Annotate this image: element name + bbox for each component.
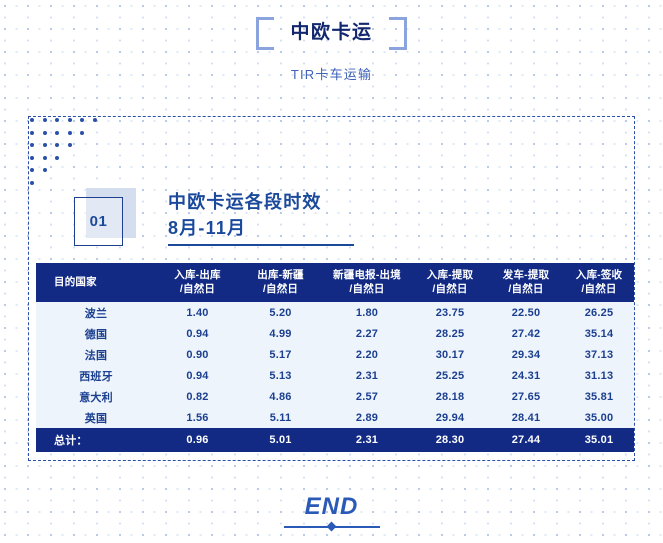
section-subtitle: 8月-11月	[168, 216, 354, 240]
table-cell-value: 1.80	[322, 302, 412, 323]
table-cell-value: 5.17	[239, 344, 322, 365]
decorative-dot	[80, 131, 84, 135]
badge-number-label: 01	[90, 213, 108, 230]
section-title-underline	[168, 244, 354, 246]
table-column-header: 发车-提取/自然日	[488, 263, 564, 302]
page-header: 中欧卡运 TIR卡车运输	[0, 0, 663, 83]
decorative-dot	[68, 131, 72, 135]
table-cell-value: 22.50	[488, 302, 564, 323]
footer-end-block: END	[0, 494, 663, 531]
column-header-line1: 入库-出库	[174, 269, 221, 281]
column-header-line2: /自然日	[239, 282, 322, 296]
bracket-bottom-right-icon	[389, 27, 407, 50]
table-cell-value: 37.13	[564, 344, 634, 365]
table-cell-country: 德国	[36, 323, 156, 344]
table-cell-value: 28.25	[412, 323, 488, 344]
table-cell-value: 5.20	[239, 302, 322, 323]
table-cell-value: 0.94	[156, 323, 239, 344]
decorative-dot	[68, 143, 72, 147]
table-cell-value: 4.86	[239, 386, 322, 407]
table-cell-value: 28.41	[488, 407, 564, 428]
section-title-block: 中欧卡运各段时效 8月-11月	[168, 190, 354, 246]
table-column-header: 入库-出库/自然日	[156, 263, 239, 302]
decorative-dot	[43, 131, 47, 135]
decorative-dot	[30, 143, 34, 147]
end-diamond-icon	[326, 522, 336, 532]
column-header-line2: /自然日	[322, 282, 412, 296]
table-column-header: 新疆电报-出境/自然日	[322, 263, 412, 302]
table-cell-value: 35.14	[564, 323, 634, 344]
table-cell-country: 意大利	[36, 386, 156, 407]
table-header: 目的国家入库-出库/自然日出库-新疆/自然日新疆电报-出境/自然日入库-提取/自…	[36, 263, 634, 302]
column-header-line2: /自然日	[564, 282, 634, 296]
decorative-dot	[93, 118, 97, 122]
decorative-dot	[55, 143, 59, 147]
table-column-header: 入库-签收/自然日	[564, 263, 634, 302]
table-cell-value: 25.25	[412, 365, 488, 386]
decorative-dot	[43, 143, 47, 147]
table-total-row: 总计：0.965.012.3128.3027.4435.01	[36, 428, 634, 452]
table-cell-value: 1.40	[156, 302, 239, 323]
table-cell-value: 35.81	[564, 386, 634, 407]
table-cell-value: 5.01	[239, 428, 322, 452]
table-cell-value: 2.20	[322, 344, 412, 365]
table-row: 意大利0.824.862.5728.1827.6535.81	[36, 386, 634, 407]
decorative-dot	[55, 156, 59, 160]
table-cell-value: 2.27	[322, 323, 412, 344]
table-row: 英国1.565.112.8929.9428.4135.00	[36, 407, 634, 428]
decorative-dot	[55, 131, 59, 135]
table-cell-value: 0.96	[156, 428, 239, 452]
table-cell-value: 26.25	[564, 302, 634, 323]
section-title: 中欧卡运各段时效	[168, 190, 354, 214]
column-header-line2: /自然日	[488, 282, 564, 296]
column-header-line1: 目的国家	[54, 276, 97, 288]
table-cell-value: 2.89	[322, 407, 412, 428]
table-cell-value: 2.31	[322, 365, 412, 386]
table-cell-value: 35.00	[564, 407, 634, 428]
decorative-dot	[30, 131, 34, 135]
column-header-line1: 新疆电报-出境	[333, 269, 401, 281]
table-cell-country: 总计：	[36, 428, 156, 452]
table-cell-value: 24.31	[488, 365, 564, 386]
table-cell-value: 29.94	[412, 407, 488, 428]
table-column-header: 目的国家	[36, 263, 156, 302]
decorative-dot	[55, 118, 59, 122]
table-cell-value: 27.44	[488, 428, 564, 452]
table-column-header: 出库-新疆/自然日	[239, 263, 322, 302]
decorative-dot	[68, 118, 72, 122]
table-row: 西班牙0.945.132.3125.2524.3131.13	[36, 365, 634, 386]
table-cell-value: 27.42	[488, 323, 564, 344]
decorative-dot	[30, 156, 34, 160]
transit-time-table: 目的国家入库-出库/自然日出库-新疆/自然日新疆电报-出境/自然日入库-提取/自…	[36, 263, 634, 452]
table-cell-country: 英国	[36, 407, 156, 428]
table-row: 法国0.905.172.2030.1729.3437.13	[36, 344, 634, 365]
table-cell-value: 0.82	[156, 386, 239, 407]
brand-lockup: 中欧卡运	[256, 17, 406, 50]
table-cell-value: 2.31	[322, 428, 412, 452]
table-cell-value: 0.90	[156, 344, 239, 365]
table-cell-value: 28.30	[412, 428, 488, 452]
table-cell-value: 29.34	[488, 344, 564, 365]
decorative-dot	[80, 118, 84, 122]
table-cell-value: 35.01	[564, 428, 634, 452]
decorative-dot	[30, 118, 34, 122]
column-header-line1: 入库-签收	[576, 269, 623, 281]
table-cell-value: 27.65	[488, 386, 564, 407]
column-header-line1: 出库-新疆	[257, 269, 304, 281]
column-header-line1: 发车-提取	[503, 269, 550, 281]
table-cell-country: 法国	[36, 344, 156, 365]
decorative-dot	[43, 168, 47, 172]
table-cell-value: 5.13	[239, 365, 322, 386]
decorative-dot	[43, 156, 47, 160]
brand-title: 中欧卡运	[290, 22, 372, 44]
table-cell-value: 31.13	[564, 365, 634, 386]
table-cell-value: 0.94	[156, 365, 239, 386]
table-cell-value: 2.57	[322, 386, 412, 407]
table-header-row: 目的国家入库-出库/自然日出库-新疆/自然日新疆电报-出境/自然日入库-提取/自…	[36, 263, 634, 302]
table-row: 波兰1.405.201.8023.7522.5026.25	[36, 302, 634, 323]
table-cell-country: 波兰	[36, 302, 156, 323]
table-body: 波兰1.405.201.8023.7522.5026.25德国0.944.992…	[36, 302, 634, 452]
table-cell-country: 西班牙	[36, 365, 156, 386]
end-rule-wrap	[284, 523, 380, 531]
section-number-badge: 01	[74, 188, 136, 246]
decorative-dots-top-left	[30, 118, 102, 196]
table-cell-value: 23.75	[412, 302, 488, 323]
column-header-line2: /自然日	[156, 282, 239, 296]
column-header-line2: /自然日	[412, 282, 488, 296]
table-row: 德国0.944.992.2728.2527.4235.14	[36, 323, 634, 344]
table-cell-value: 4.99	[239, 323, 322, 344]
table-cell-value: 28.18	[412, 386, 488, 407]
badge-box: 01	[74, 197, 123, 246]
table-cell-value: 5.11	[239, 407, 322, 428]
column-header-line1: 入库-提取	[427, 269, 474, 281]
table-cell-value: 1.56	[156, 407, 239, 428]
decorative-dot	[30, 181, 34, 185]
table-cell-value: 30.17	[412, 344, 488, 365]
decorative-dot	[30, 168, 34, 172]
bracket-bottom-left-icon	[256, 27, 274, 50]
end-label: END	[0, 494, 663, 520]
brand-subtitle: TIR卡车运输	[0, 64, 663, 83]
table-column-header: 入库-提取/自然日	[412, 263, 488, 302]
decorative-dot	[43, 118, 47, 122]
